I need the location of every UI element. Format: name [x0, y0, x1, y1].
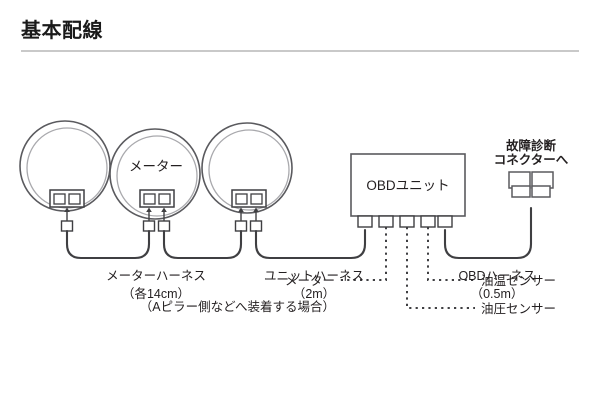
gauge-right-plug-1 — [236, 221, 247, 231]
diagnostic-connector-body-right-bottom — [532, 186, 550, 197]
callout-line-oil-pressure — [407, 227, 475, 308]
obd-unit-port-5 — [438, 216, 452, 227]
harness-label-meter: メーターハーネス （各14cm） — [106, 269, 206, 301]
diagnostic-connector-body-left-bottom — [512, 186, 530, 197]
diagnostic-connector-label-line2: コネクターへ — [494, 152, 569, 167]
cable-meter-harness-2 — [164, 231, 241, 258]
obd-unit: OBDユニット — [351, 154, 465, 227]
wiring-diagram: メーター — [0, 58, 600, 400]
page-root: 基本配線 — [0, 0, 600, 400]
harness-label-meter-title: メーターハーネス — [106, 269, 206, 283]
gauge-center: メーター — [110, 129, 200, 231]
gauge-right-pin-2 — [251, 194, 262, 204]
page-title: 基本配線 — [21, 14, 103, 43]
gauge-right — [202, 123, 292, 231]
title-divider — [21, 50, 579, 52]
callout-meter-label: メーター — [285, 274, 335, 288]
harness-label-obd-spec: （0.5m） — [471, 287, 524, 301]
diagnostic-connector: 故障診断 コネクターへ — [494, 138, 569, 197]
gauge-right-pin-1 — [236, 194, 247, 204]
gauge-center-pin-2 — [159, 194, 170, 204]
gauge-center-plug-2 — [159, 221, 170, 231]
obd-unit-port-4 — [421, 216, 435, 227]
obd-unit-port-3 — [400, 216, 414, 227]
gauge-center-plug-1 — [144, 221, 155, 231]
cable-unit-harness — [256, 230, 365, 258]
obd-unit-label: OBDユニット — [366, 178, 449, 193]
gauge-center-pin-1 — [144, 194, 155, 204]
gauge-left — [20, 121, 110, 231]
callout-meter-note-label: （Aピラー側などへ装着する場合） — [140, 299, 335, 314]
gauge-left-pin-1 — [54, 194, 65, 204]
callout-oil-pressure-sensor-label: 油圧センサー — [481, 302, 556, 316]
cable-meter-harness-1 — [67, 231, 149, 258]
page-header: 基本配線 — [0, 0, 600, 58]
obd-unit-port-1 — [358, 216, 372, 227]
harness-label-unit-spec: （2m） — [293, 287, 335, 301]
harness-label-meter-spec: （各14cm） — [122, 286, 190, 301]
gauge-right-plug-2 — [251, 221, 262, 231]
callout-oil-temp-sensor-label: 油温センサー — [481, 274, 556, 288]
wiring-diagram-svg: メーター — [0, 58, 600, 400]
obd-unit-port-2 — [379, 216, 393, 227]
diagnostic-connector-label-line1: 故障診断 — [506, 138, 557, 153]
gauge-left-plug — [62, 221, 73, 231]
gauge-center-label: メーター — [129, 159, 183, 174]
gauge-left-pin-2 — [69, 194, 80, 204]
